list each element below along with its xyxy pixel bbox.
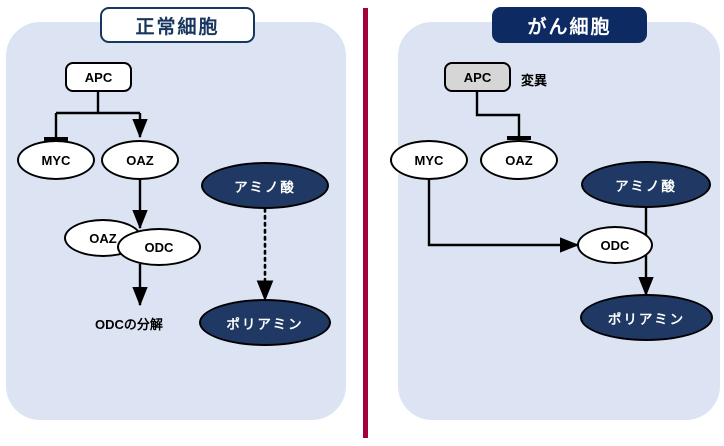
panel-divider <box>363 8 368 438</box>
label-odc-degradation-normal: ODCの分解 <box>95 314 163 333</box>
node-myc-cancer[interactable]: MYC <box>390 140 468 180</box>
node-odc-normal[interactable]: ODC <box>117 228 201 266</box>
node-odc-cancer[interactable]: ODC <box>577 226 653 264</box>
title-normal-cell: 正常細胞 <box>100 7 255 43</box>
title-cancer-cell: がん細胞 <box>492 7 647 43</box>
diagram-canvas: 正常細胞 がん細胞 APC MYC OAZ OAZ ODC アミノ酸 ポリアミン… <box>0 0 724 446</box>
node-apc-cancer[interactable]: APC <box>444 62 511 92</box>
node-oaz-top-normal[interactable]: OAZ <box>101 140 179 180</box>
label-mutation-cancer: 変異 <box>521 70 547 89</box>
node-polyamine-cancer[interactable]: ポリアミン <box>580 294 713 341</box>
node-amino-acid-cancer[interactable]: アミノ酸 <box>581 161 711 208</box>
node-oaz-cancer[interactable]: OAZ <box>480 140 558 180</box>
node-polyamine-normal[interactable]: ポリアミン <box>199 299 331 346</box>
node-myc-normal[interactable]: MYC <box>17 140 95 180</box>
node-apc-normal[interactable]: APC <box>65 62 132 92</box>
panel-normal-cell <box>6 22 346 420</box>
node-amino-acid-normal[interactable]: アミノ酸 <box>201 162 329 209</box>
